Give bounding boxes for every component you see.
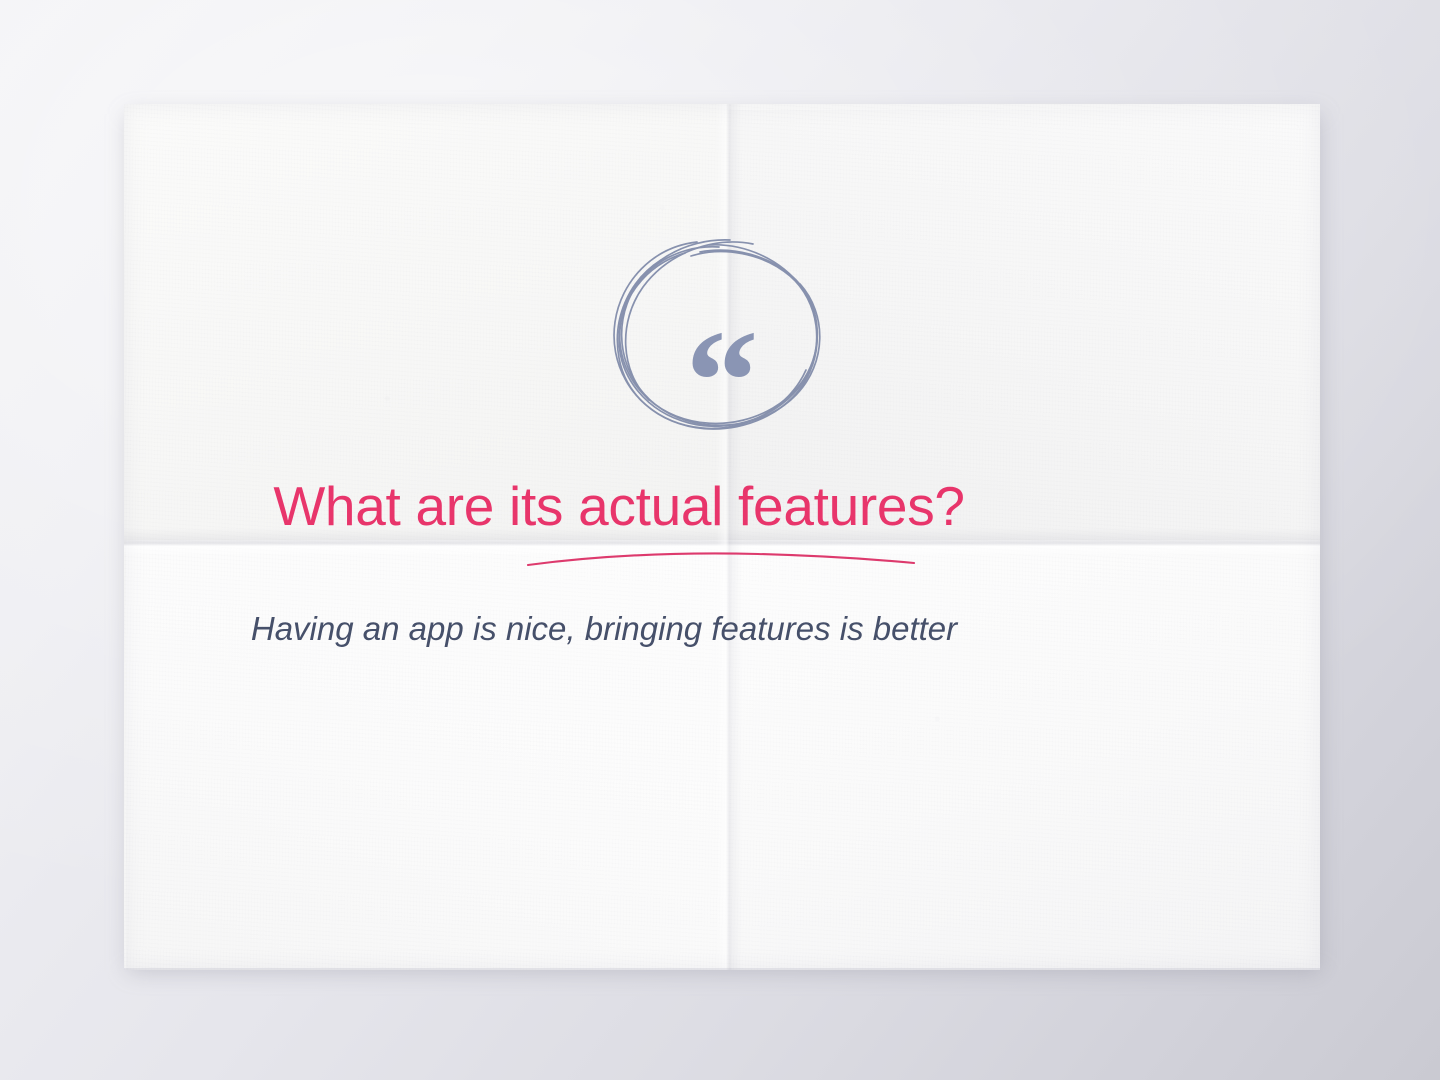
slide-subtitle-text: Having an app is nice, bringing features…	[251, 610, 957, 647]
quote-badge: “	[601, 234, 841, 452]
slide-subtitle: Having an app is nice, bringing features…	[124, 610, 1320, 648]
slide-canvas: “ What are its actual features? Having a…	[0, 0, 1440, 1080]
slide-title-text: What are its actual features?	[273, 475, 964, 537]
hand-drawn-underline	[526, 546, 916, 572]
slide-content: “ What are its actual features? Having a…	[0, 0, 1440, 1080]
quote-mark-icon: “	[601, 234, 841, 452]
underline-stroke	[526, 546, 916, 572]
slide-title: What are its actual features?	[124, 474, 1320, 538]
